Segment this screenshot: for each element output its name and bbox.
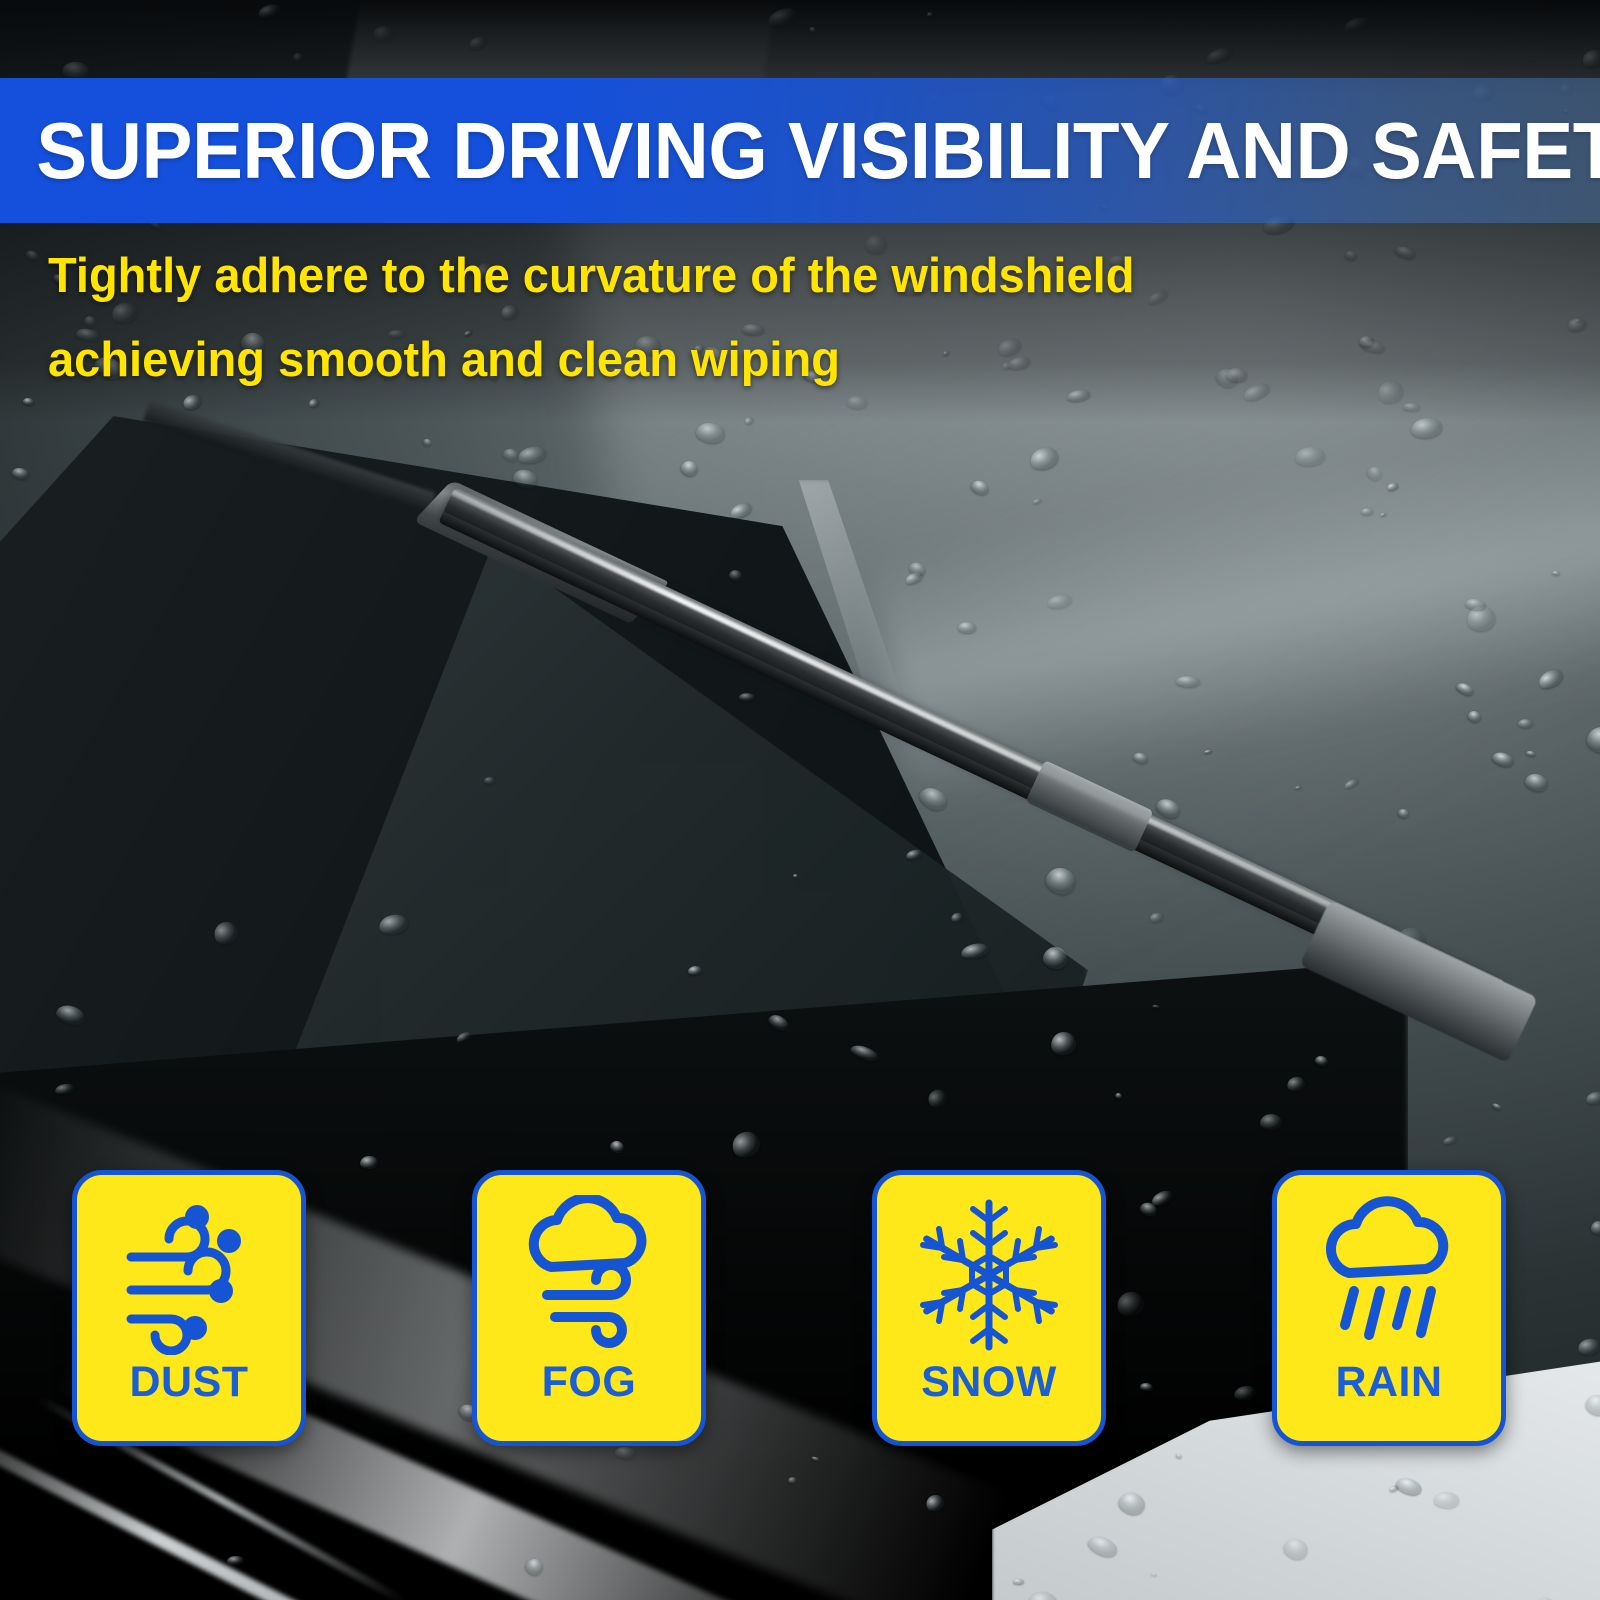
wiper-blade-end [1299,900,1538,1063]
headline-banner: SUPERIOR DRIVING VISIBILITY AND SAFETY [0,78,1600,223]
feature-badge-rain[interactable]: RAIN [1272,1170,1506,1446]
feature-badge-row: DUST FOG [0,1170,1600,1450]
subtitle-line-2: achieving smooth and clean wiping [48,336,1200,385]
feature-badge-dust[interactable]: DUST [72,1170,306,1446]
badge-label-fog: FOG [542,1361,637,1404]
snowflake-icon [907,1191,1071,1359]
badge-label-rain: RAIN [1335,1361,1442,1404]
headline-title: SUPERIOR DRIVING VISIBILITY AND SAFETY [0,111,1600,191]
subtitle-block: Tightly adhere to the curvature of the w… [48,252,1248,420]
cloud-fog-icon [509,1191,669,1359]
cloud-rain-icon [1309,1191,1469,1359]
feature-badge-fog[interactable]: FOG [472,1170,706,1446]
wind-dust-icon [109,1191,269,1359]
badge-label-dust: DUST [129,1361,248,1404]
product-feature-poster: SUPERIOR DRIVING VISIBILITY AND SAFETY T… [0,0,1600,1600]
badge-label-snow: SNOW [921,1361,1057,1404]
subtitle-line-1: Tightly adhere to the curvature of the w… [48,252,1200,301]
feature-badge-snow[interactable]: SNOW [872,1170,1106,1446]
lower-wiper-arm [0,1430,459,1600]
blade-connector-clip [1025,760,1153,853]
